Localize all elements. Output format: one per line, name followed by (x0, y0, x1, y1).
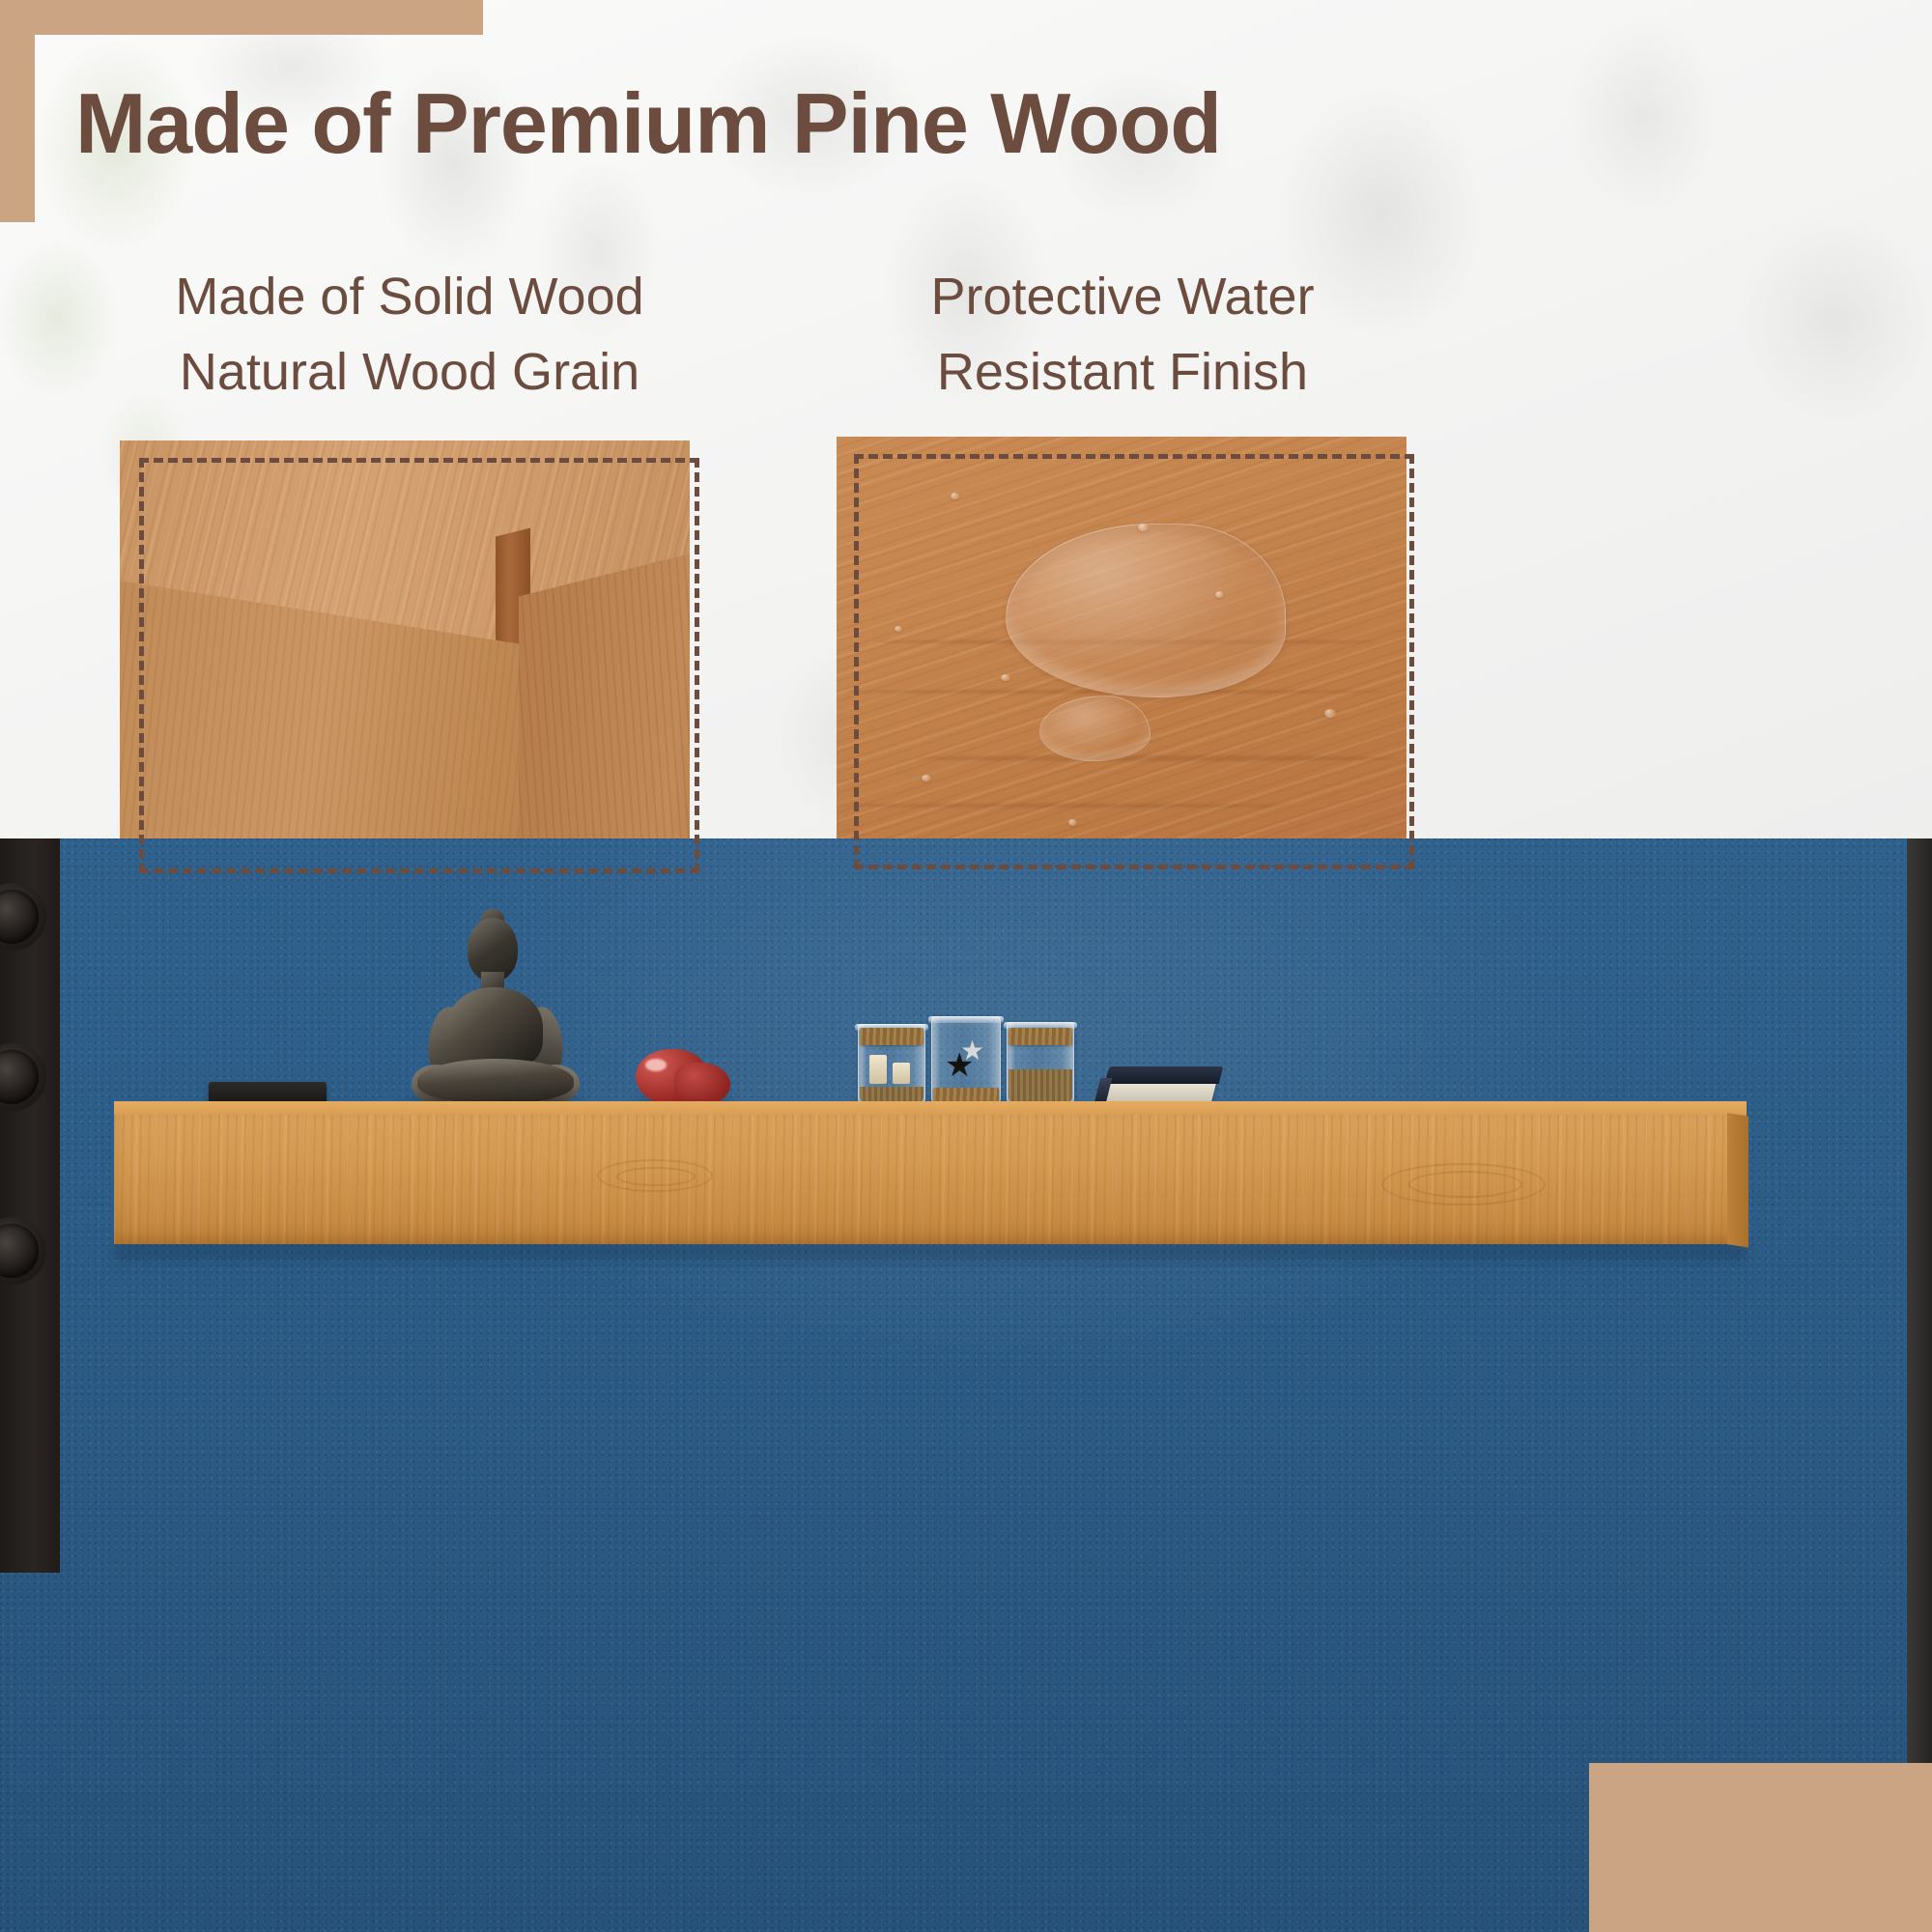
jar-candle (869, 1055, 887, 1084)
feature-label-line1: Protective Water (833, 259, 1412, 334)
corner-bracket-vertical-icon (0, 0, 35, 222)
red-object-highlight (645, 1059, 667, 1071)
water-droplet (1138, 524, 1149, 531)
glass-jar-stars: ★ ★ (931, 1016, 1001, 1105)
feature-label-line2: Resistant Finish (833, 334, 1412, 410)
wood-box (120, 440, 690, 856)
feature-label-line1: Made of Solid Wood (120, 259, 699, 334)
shelf-drop-shadow (114, 1244, 1747, 1269)
jar-candle (893, 1063, 910, 1084)
red-decorative-object (636, 1049, 732, 1105)
statue-lap (417, 1059, 574, 1103)
page-title: Made of Premium Pine Wood (75, 79, 1891, 168)
wood-grain-streak (914, 755, 1397, 761)
water-droplet (1324, 709, 1336, 718)
red-object-fin (674, 1063, 730, 1105)
water-droplet (1215, 591, 1224, 598)
star-decoration-icon: ★ (945, 1049, 974, 1082)
water-droplet (1068, 819, 1077, 826)
water-droplet (895, 626, 902, 632)
water-droplet (922, 775, 931, 781)
marketing-image: Made of Premium Pine Wood Made of Solid … (0, 0, 1932, 1932)
wood-grain-streak (837, 804, 1291, 808)
hardcover-book (1107, 1066, 1221, 1105)
floating-wall-shelf (114, 1101, 1747, 1244)
jar-sand (1009, 1069, 1072, 1102)
feature-image-solid-wood (120, 440, 690, 856)
jar-sand (860, 1087, 923, 1102)
wood-knot (1408, 1171, 1522, 1198)
water-droplet (951, 493, 959, 499)
wood-knot (616, 1167, 696, 1186)
buddha-statue (404, 918, 587, 1103)
shelf-end-cap (1727, 1113, 1748, 1247)
jar-rope-band (860, 1028, 923, 1045)
floor-speaker (0, 838, 60, 1573)
glass-jar-candle (858, 1024, 925, 1105)
jar-rim (928, 1016, 1004, 1023)
shelf-front-face (114, 1115, 1747, 1244)
water-droplet (1001, 674, 1010, 681)
feature-image-water-resistant (837, 437, 1406, 852)
feature-label-solid-wood: Made of Solid Wood Natural Wood Grain (120, 259, 699, 411)
corner-bracket-horizontal-icon (0, 0, 483, 35)
tv-remote-control (209, 1082, 327, 1103)
book-cover (1105, 1066, 1223, 1084)
jar-rope-band (1009, 1028, 1072, 1045)
glass-jar-sand (1007, 1022, 1074, 1105)
feature-label-water-resistant: Protective Water Resistant Finish (833, 259, 1412, 411)
feature-label-line2: Natural Wood Grain (120, 334, 699, 410)
corner-block-bottom-right (1589, 1763, 1932, 1932)
